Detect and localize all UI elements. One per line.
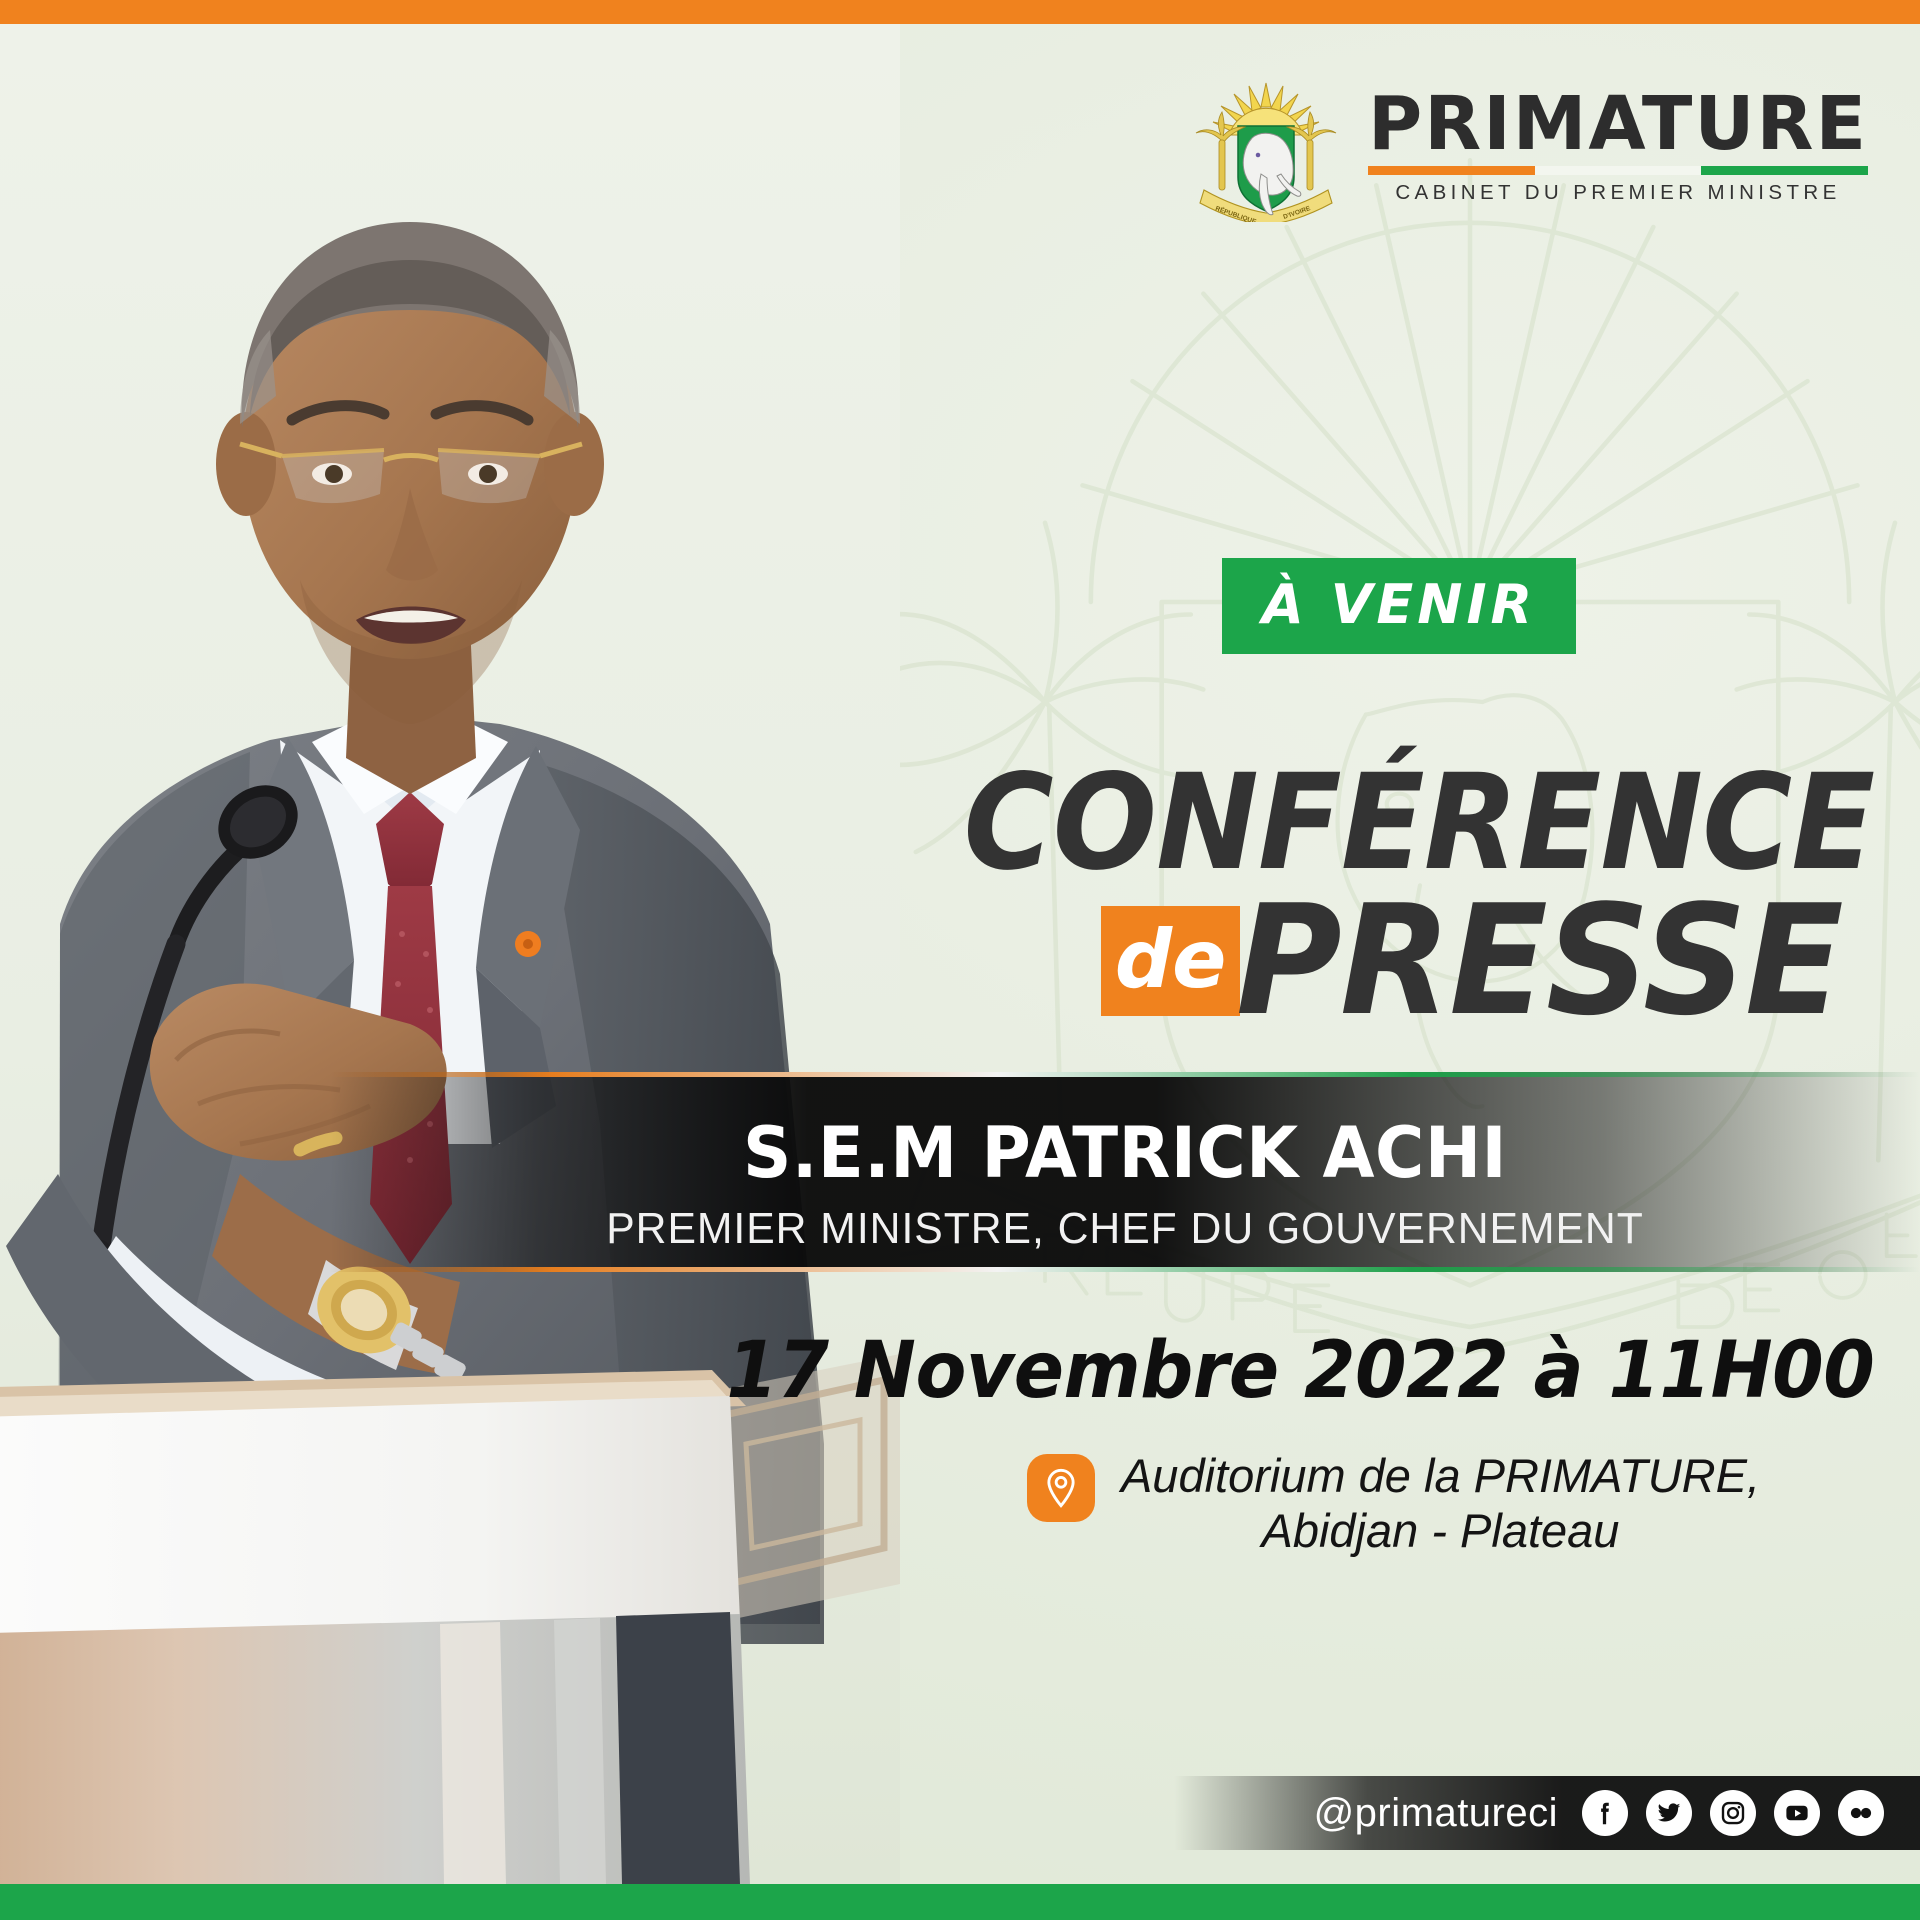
event-venue: Auditorium de la PRIMATURE, Abidjan - Pl… bbox=[1027, 1448, 1760, 1559]
coat-of-arms-icon: RÉPUBLIQUE D'IVOIRE bbox=[1186, 72, 1346, 222]
headline-line-1: CONFÉRENCE bbox=[963, 760, 1874, 887]
status-badge-label: À VENIR bbox=[1262, 578, 1536, 632]
venue-text: Auditorium de la PRIMATURE, Abidjan - Pl… bbox=[1121, 1448, 1760, 1559]
speaker-name: S.E.M PATRICK ACHI bbox=[362, 1112, 1888, 1194]
logo-wordmark: PRIMATURE CABINET DU PREMIER MINISTRE bbox=[1368, 89, 1868, 205]
instagram-icon[interactable] bbox=[1710, 1790, 1756, 1836]
twitter-icon[interactable] bbox=[1646, 1790, 1692, 1836]
logo-flag-rule bbox=[1368, 166, 1868, 175]
youtube-icon[interactable] bbox=[1774, 1790, 1820, 1836]
logo-subtitle: CABINET DU PREMIER MINISTRE bbox=[1368, 181, 1868, 205]
speaker-photo bbox=[0, 24, 900, 1884]
venue-line-1: Auditorium de la PRIMATURE, bbox=[1121, 1448, 1760, 1503]
headline-presse: PRESSE bbox=[1236, 891, 1842, 1031]
speaker-title: PREMIER MINISTRE, CHEF DU GOUVERNEMENT bbox=[354, 1204, 1896, 1254]
event-datetime: 17 Novembre 2022 à 11H00 bbox=[726, 1326, 1874, 1416]
social-footer: @primatureci bbox=[1174, 1776, 1920, 1850]
bottom-accent-bar bbox=[0, 1884, 1920, 1920]
status-badge: À VENIR bbox=[1222, 558, 1576, 654]
top-accent-bar bbox=[0, 0, 1920, 24]
logo-title: PRIMATURE bbox=[1368, 89, 1868, 159]
facebook-icon[interactable] bbox=[1582, 1790, 1628, 1836]
band-top-rule bbox=[330, 1072, 1920, 1077]
band-bottom-rule bbox=[330, 1267, 1920, 1272]
flickr-icon[interactable] bbox=[1838, 1790, 1884, 1836]
social-handle: @primatureci bbox=[1314, 1791, 1558, 1836]
location-pin-icon bbox=[1027, 1454, 1095, 1522]
speaker-name-band: S.E.M PATRICK ACHI PREMIER MINISTRE, CHE… bbox=[330, 1072, 1920, 1272]
venue-line-2: Abidjan - Plateau bbox=[1121, 1503, 1760, 1558]
headline-de-chip: de bbox=[1101, 906, 1241, 1016]
page-title: CONFÉRENCE de PRESSE bbox=[895, 760, 1874, 1031]
primature-logo: RÉPUBLIQUE D'IVOIRE PRIMATURE CABINET DU… bbox=[1186, 72, 1868, 222]
poster-canvas: RÉPUBLIQUE D'IVOIRE PRIMATURE CABINET DU… bbox=[0, 0, 1920, 1920]
headline-line-2: de PRESSE bbox=[895, 891, 1874, 1031]
